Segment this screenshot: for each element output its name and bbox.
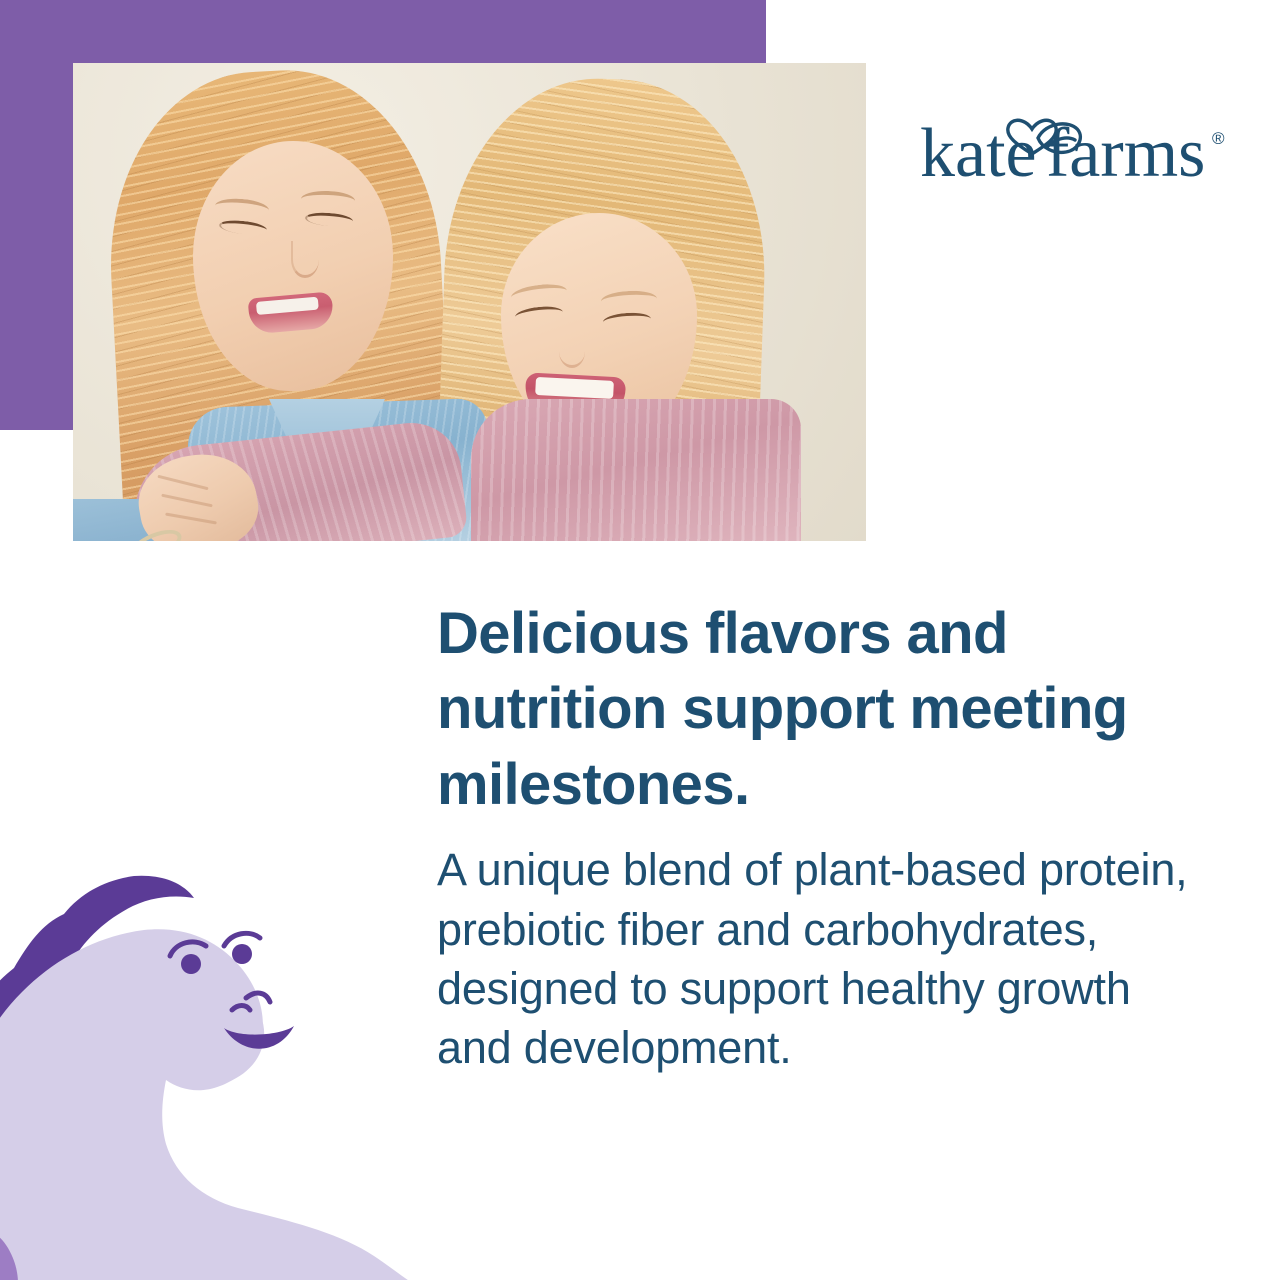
mother-teeth: [256, 297, 319, 315]
logo-wordmark-kate: kate: [920, 115, 1037, 188]
marketing-graphic-canvas: kate farms ® Delicious flavors and nutri…: [0, 0, 1280, 1280]
girl-sweater-texture: [471, 399, 801, 541]
dino-eye-right: [232, 944, 252, 964]
mother-nose: [291, 241, 319, 278]
headline: Delicious flavors and nutrition support …: [437, 596, 1189, 822]
purple-dinosaur-mascot: [0, 832, 414, 1280]
logo-wordmark-farms: farms: [1046, 115, 1205, 188]
body-copy: A unique blend of plant-based protein, p…: [437, 840, 1189, 1078]
dinosaur-svg: [0, 832, 414, 1280]
katefarms-logo-svg: kate farms ®: [920, 96, 1235, 188]
dino-eye-left: [181, 954, 201, 974]
katefarms-logo: kate farms ®: [920, 96, 1235, 188]
girl-teeth: [535, 377, 614, 399]
girl-nose: [559, 335, 585, 368]
registered-trademark-icon: ®: [1212, 129, 1225, 148]
hero-photo: [73, 63, 866, 541]
dino-body: [0, 929, 414, 1280]
copy-block: Delicious flavors and nutrition support …: [437, 596, 1189, 1078]
